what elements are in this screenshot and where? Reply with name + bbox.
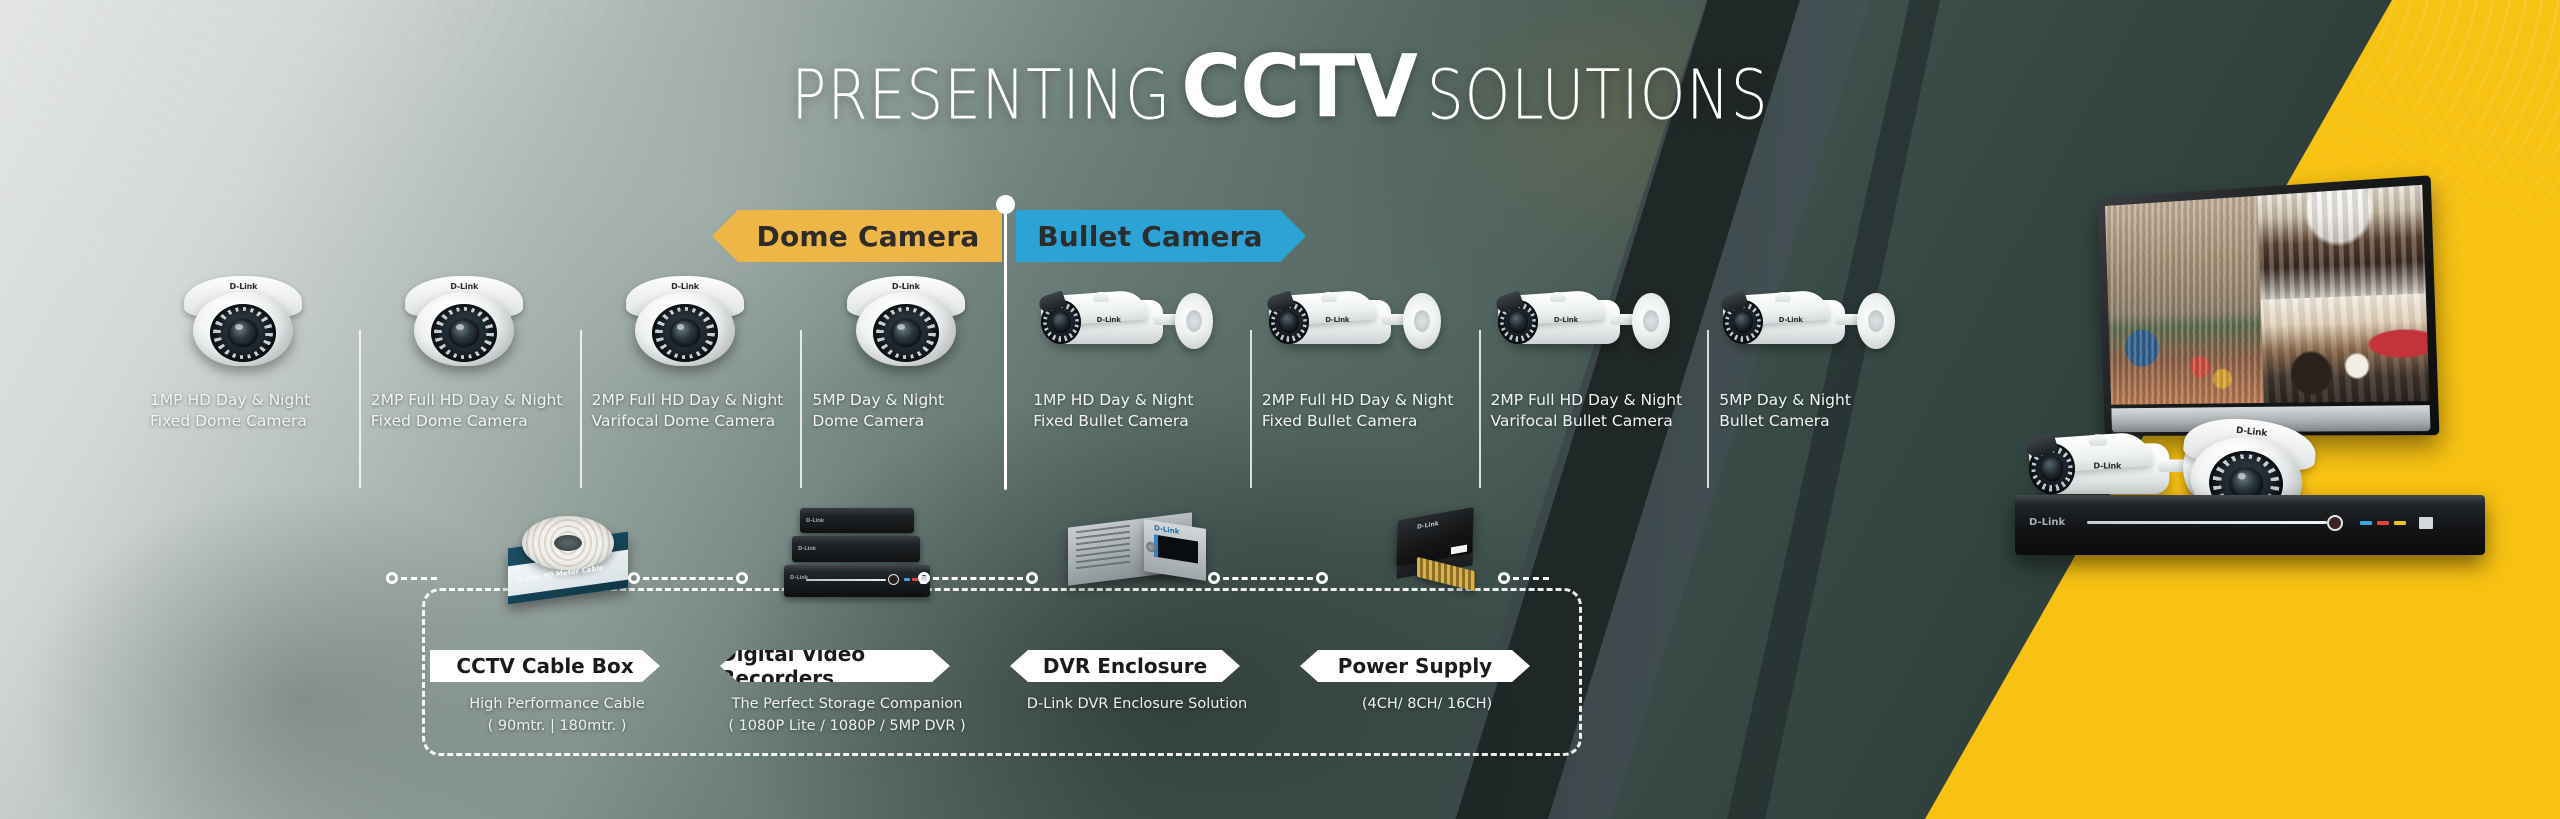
brand-label: D-Link <box>450 282 478 291</box>
brand-label: D-Link <box>2093 462 2121 471</box>
cable-box-image: D-Link 90 Meter Cable <box>422 500 712 605</box>
camera-caption-line2: Fixed Bullet Camera <box>1262 411 1467 432</box>
camera-card-0[interactable]: D-Link 1MP HD Day & Night Fixed Dome Cam… <box>140 262 361 492</box>
accessory-card-enclosure[interactable]: D-Link DVR Enclosure D-Link DVR Enclosur… <box>1002 500 1292 770</box>
connector-1 <box>628 572 748 584</box>
brand-label: D-Link <box>798 546 816 552</box>
brand-label: D-Link <box>2029 517 2065 528</box>
camera-card-3[interactable]: D-Link 5MP Day & Night Dome Camera <box>802 262 1023 492</box>
title-post: SOLUTIONS <box>1427 55 1769 135</box>
camera-caption-line1: 2MP Full HD Day & Night <box>1262 390 1467 411</box>
connector-left-start <box>386 572 440 584</box>
title-emphasis: CCTV <box>1181 38 1417 138</box>
accessories-row: D-Link 90 Meter Cable CCTV Cable Box Hig… <box>422 500 1582 770</box>
title-pre: PRESENTING <box>791 55 1171 135</box>
accessory-card-power-supply[interactable]: D-Link Power Supply (4CH/ 8CH/ 16CH) <box>1292 500 1582 770</box>
camera-caption-line1: 5MP Day & Night <box>812 390 1009 411</box>
camera-image-7: D-Link <box>1709 262 1916 374</box>
camera-caption-line2: Fixed Dome Camera <box>371 411 568 432</box>
connector-right-end <box>1498 572 1552 584</box>
camera-caption-line2: Bullet Camera <box>1719 411 1916 432</box>
dvr-status-leds <box>2360 521 2406 525</box>
camera-caption-2: 2MP Full HD Day & Night Varifocal Dome C… <box>592 390 789 432</box>
banner-bullet-camera[interactable]: Bullet Camera <box>1016 210 1306 262</box>
camera-image-0: D-Link <box>140 262 347 374</box>
camera-caption-3: 5MP Day & Night Dome Camera <box>812 390 1009 432</box>
camera-caption-line2: Dome Camera <box>812 411 1009 432</box>
dvr-enclosure-image: D-Link <box>1002 500 1292 605</box>
brand-label: D-Link <box>892 282 920 291</box>
brand-label: D-Link <box>1779 316 1803 324</box>
banner-dome-camera[interactable]: Dome Camera <box>712 210 1002 262</box>
camera-card-4[interactable]: D-Link 1MP HD Day & Night Fixed Bullet C… <box>1023 262 1252 492</box>
brand-label: D-Link <box>230 282 258 291</box>
brand-label: D-Link <box>1325 316 1349 324</box>
camera-caption-line2: Varifocal Dome Camera <box>592 411 789 432</box>
camera-caption-line1: 1MP HD Day & Night <box>1033 390 1238 411</box>
bullet-camera-icon: D-Link <box>1041 284 1221 364</box>
camera-caption-line1: 2MP Full HD Day & Night <box>371 390 568 411</box>
accessory-sub-line1: D-Link DVR Enclosure Solution <box>1002 694 1272 716</box>
accessory-sub-power-supply: (4CH/ 8CH/ 16CH) <box>1292 694 1562 716</box>
power-supply-image: D-Link <box>1292 500 1582 605</box>
camera-caption-line2: Fixed Dome Camera <box>150 411 347 432</box>
dome-camera-icon: D-Link <box>626 276 744 368</box>
camera-card-1[interactable]: D-Link 2MP Full HD Day & Night Fixed Dom… <box>361 262 582 492</box>
hero-system-illustration: D-Link D-Link D-Link <box>2015 175 2485 635</box>
camera-caption-line1: 2MP Full HD Day & Night <box>1491 390 1696 411</box>
accessory-sub-line1: The Perfect Storage Companion <box>712 694 982 716</box>
banner-stage: PRESENTINGCCTVSOLUTIONS Dome Camera Bull… <box>0 0 2560 819</box>
accessory-label-cable-box[interactable]: CCTV Cable Box <box>430 650 660 682</box>
camera-image-3: D-Link <box>802 262 1009 374</box>
camera-image-4: D-Link <box>1023 262 1238 374</box>
camera-image-1: D-Link <box>361 262 568 374</box>
connector-2 <box>918 572 1038 584</box>
brand-label: D-Link <box>671 282 699 291</box>
camera-caption-0: 1MP HD Day & Night Fixed Dome Camera <box>150 390 347 432</box>
surveillance-monitor <box>2097 175 2439 436</box>
hero-dvr-recorder: D-Link <box>2015 495 2485 555</box>
accessory-sub-enclosure: D-Link DVR Enclosure Solution <box>1002 694 1272 716</box>
camera-category-banners: Dome Camera Bullet Camera <box>712 210 1306 262</box>
camera-caption-line1: 2MP Full HD Day & Night <box>592 390 789 411</box>
accessory-label-dvr[interactable]: Digital Video Recorders <box>720 650 950 682</box>
dvr-stack-icon: D-Link D-Link D-Link <box>782 502 932 604</box>
accessory-sub-line1: High Performance Cable <box>422 694 692 716</box>
brand-label: D-Link <box>806 518 824 524</box>
accessory-sub-line2: ( 1080P Lite / 1080P / 5MP DVR ) <box>712 716 982 738</box>
camera-image-6: D-Link <box>1481 262 1696 374</box>
camera-feed-lounge <box>2260 293 2429 403</box>
dome-camera-icon: D-Link <box>184 276 302 368</box>
accessory-card-cable-box[interactable]: D-Link 90 Meter Cable CCTV Cable Box Hig… <box>422 500 712 770</box>
camera-caption-5: 2MP Full HD Day & Night Fixed Bullet Cam… <box>1262 390 1467 432</box>
camera-feed-retail-store <box>2105 196 2264 405</box>
connector-3 <box>1208 572 1328 584</box>
dome-camera-icon: D-Link <box>847 276 965 368</box>
bullet-camera-icon: D-Link <box>1269 284 1449 364</box>
camera-image-5: D-Link <box>1252 262 1467 374</box>
accessory-label-power-supply[interactable]: Power Supply <box>1300 650 1530 682</box>
bullet-camera-icon: D-Link <box>1723 284 1903 364</box>
accessory-sub-cable-box: High Performance Cable ( 90mtr. | 180mtr… <box>422 694 692 738</box>
camera-caption-1: 2MP Full HD Day & Night Fixed Dome Camer… <box>371 390 568 432</box>
camera-caption-line2: Varifocal Bullet Camera <box>1491 411 1696 432</box>
bullet-camera-icon: D-Link <box>1498 284 1678 364</box>
camera-product-row: D-Link 1MP HD Day & Night Fixed Dome Cam… <box>140 262 1930 492</box>
dvr-front-bar <box>2087 521 2327 524</box>
accessory-label-enclosure[interactable]: DVR Enclosure <box>1010 650 1240 682</box>
accessory-card-dvr[interactable]: D-Link D-Link D-Link Digital Video Recor… <box>712 500 1002 770</box>
camera-card-2[interactable]: D-Link 2MP Full HD Day & Night Varifocal… <box>582 262 803 492</box>
camera-caption-line2: Fixed Bullet Camera <box>1033 411 1238 432</box>
brand-label: D-Link <box>1554 316 1578 324</box>
camera-caption-6: 2MP Full HD Day & Night Varifocal Bullet… <box>1491 390 1696 432</box>
camera-card-5[interactable]: D-Link 2MP Full HD Day & Night Fixed Bul… <box>1252 262 1481 492</box>
cable-box-icon: D-Link 90 Meter Cable <box>502 504 632 604</box>
camera-card-6[interactable]: D-Link 2MP Full HD Day & Night Varifocal… <box>1481 262 1710 492</box>
camera-caption-line1: 5MP Day & Night <box>1719 390 1916 411</box>
dvr-power-knob[interactable] <box>2327 515 2343 531</box>
accessory-sub-line2: ( 90mtr. | 180mtr. ) <box>422 716 692 738</box>
dvr-stack-image: D-Link D-Link D-Link <box>712 500 1002 605</box>
camera-caption-line1: 1MP HD Day & Night <box>150 390 347 411</box>
dvr-usb-port[interactable] <box>2419 517 2433 529</box>
power-supply-icon: D-Link <box>1387 508 1487 600</box>
page-title: PRESENTINGCCTVSOLUTIONS <box>0 40 2560 135</box>
camera-card-7[interactable]: D-Link 5MP Day & Night Bullet Camera <box>1709 262 1930 492</box>
camera-image-2: D-Link <box>582 262 789 374</box>
dvr-enclosure-icon: D-Link <box>1068 510 1226 598</box>
camera-caption-7: 5MP Day & Night Bullet Camera <box>1719 390 1916 432</box>
camera-caption-4: 1MP HD Day & Night Fixed Bullet Camera <box>1033 390 1238 432</box>
brand-label: D-Link <box>1097 316 1121 324</box>
accessory-sub-line1: (4CH/ 8CH/ 16CH) <box>1292 694 1562 716</box>
accessory-sub-dvr: The Perfect Storage Companion ( 1080P Li… <box>712 694 982 738</box>
camera-feed-boutique <box>2257 185 2426 300</box>
dome-camera-icon: D-Link <box>405 276 523 368</box>
monitor-screen-quad-view <box>2105 185 2430 405</box>
section-divider-dot-icon <box>996 195 1015 214</box>
